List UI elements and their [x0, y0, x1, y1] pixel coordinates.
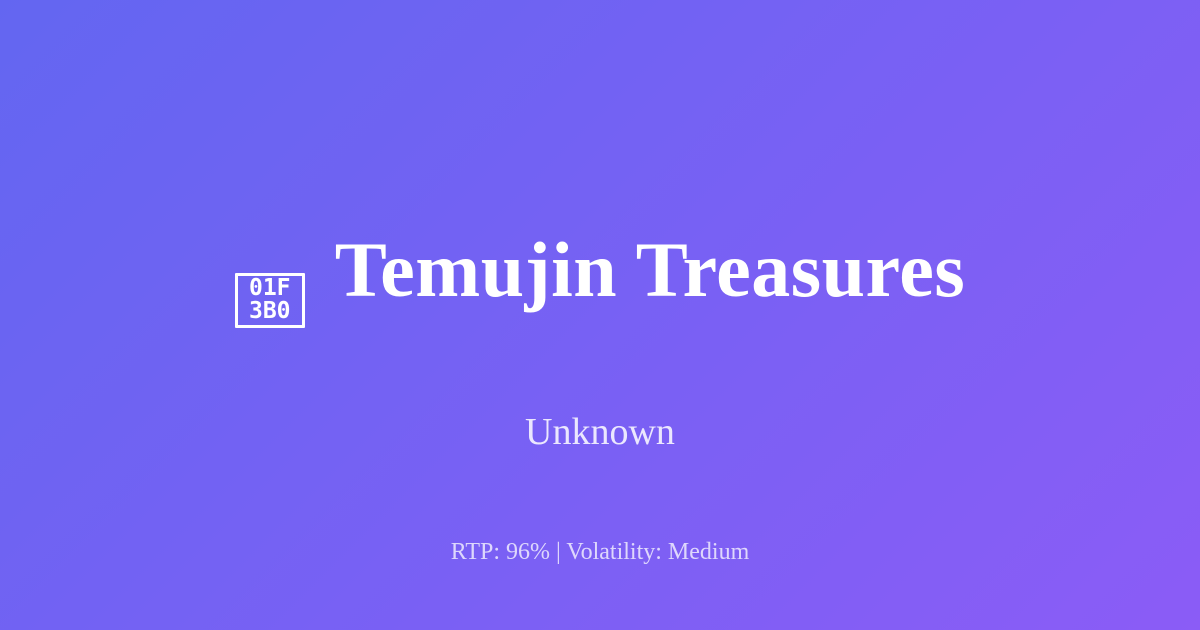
- game-meta-line: RTP: 96% | Volatility: Medium: [0, 540, 1200, 564]
- title-row: 01F 3B0 Temujin Treasures: [0, 179, 1200, 362]
- tofu-hex-bottom: 3B0: [249, 300, 291, 323]
- tofu-hex-top: 01F: [249, 277, 291, 300]
- og-share-card: 01F 3B0 Temujin Treasures Unknown RTP: 9…: [0, 0, 1200, 630]
- slot-machine-icon: 01F 3B0: [235, 273, 305, 328]
- provider-label: Unknown: [525, 413, 675, 451]
- page-title: Temujin Treasures: [335, 231, 965, 309]
